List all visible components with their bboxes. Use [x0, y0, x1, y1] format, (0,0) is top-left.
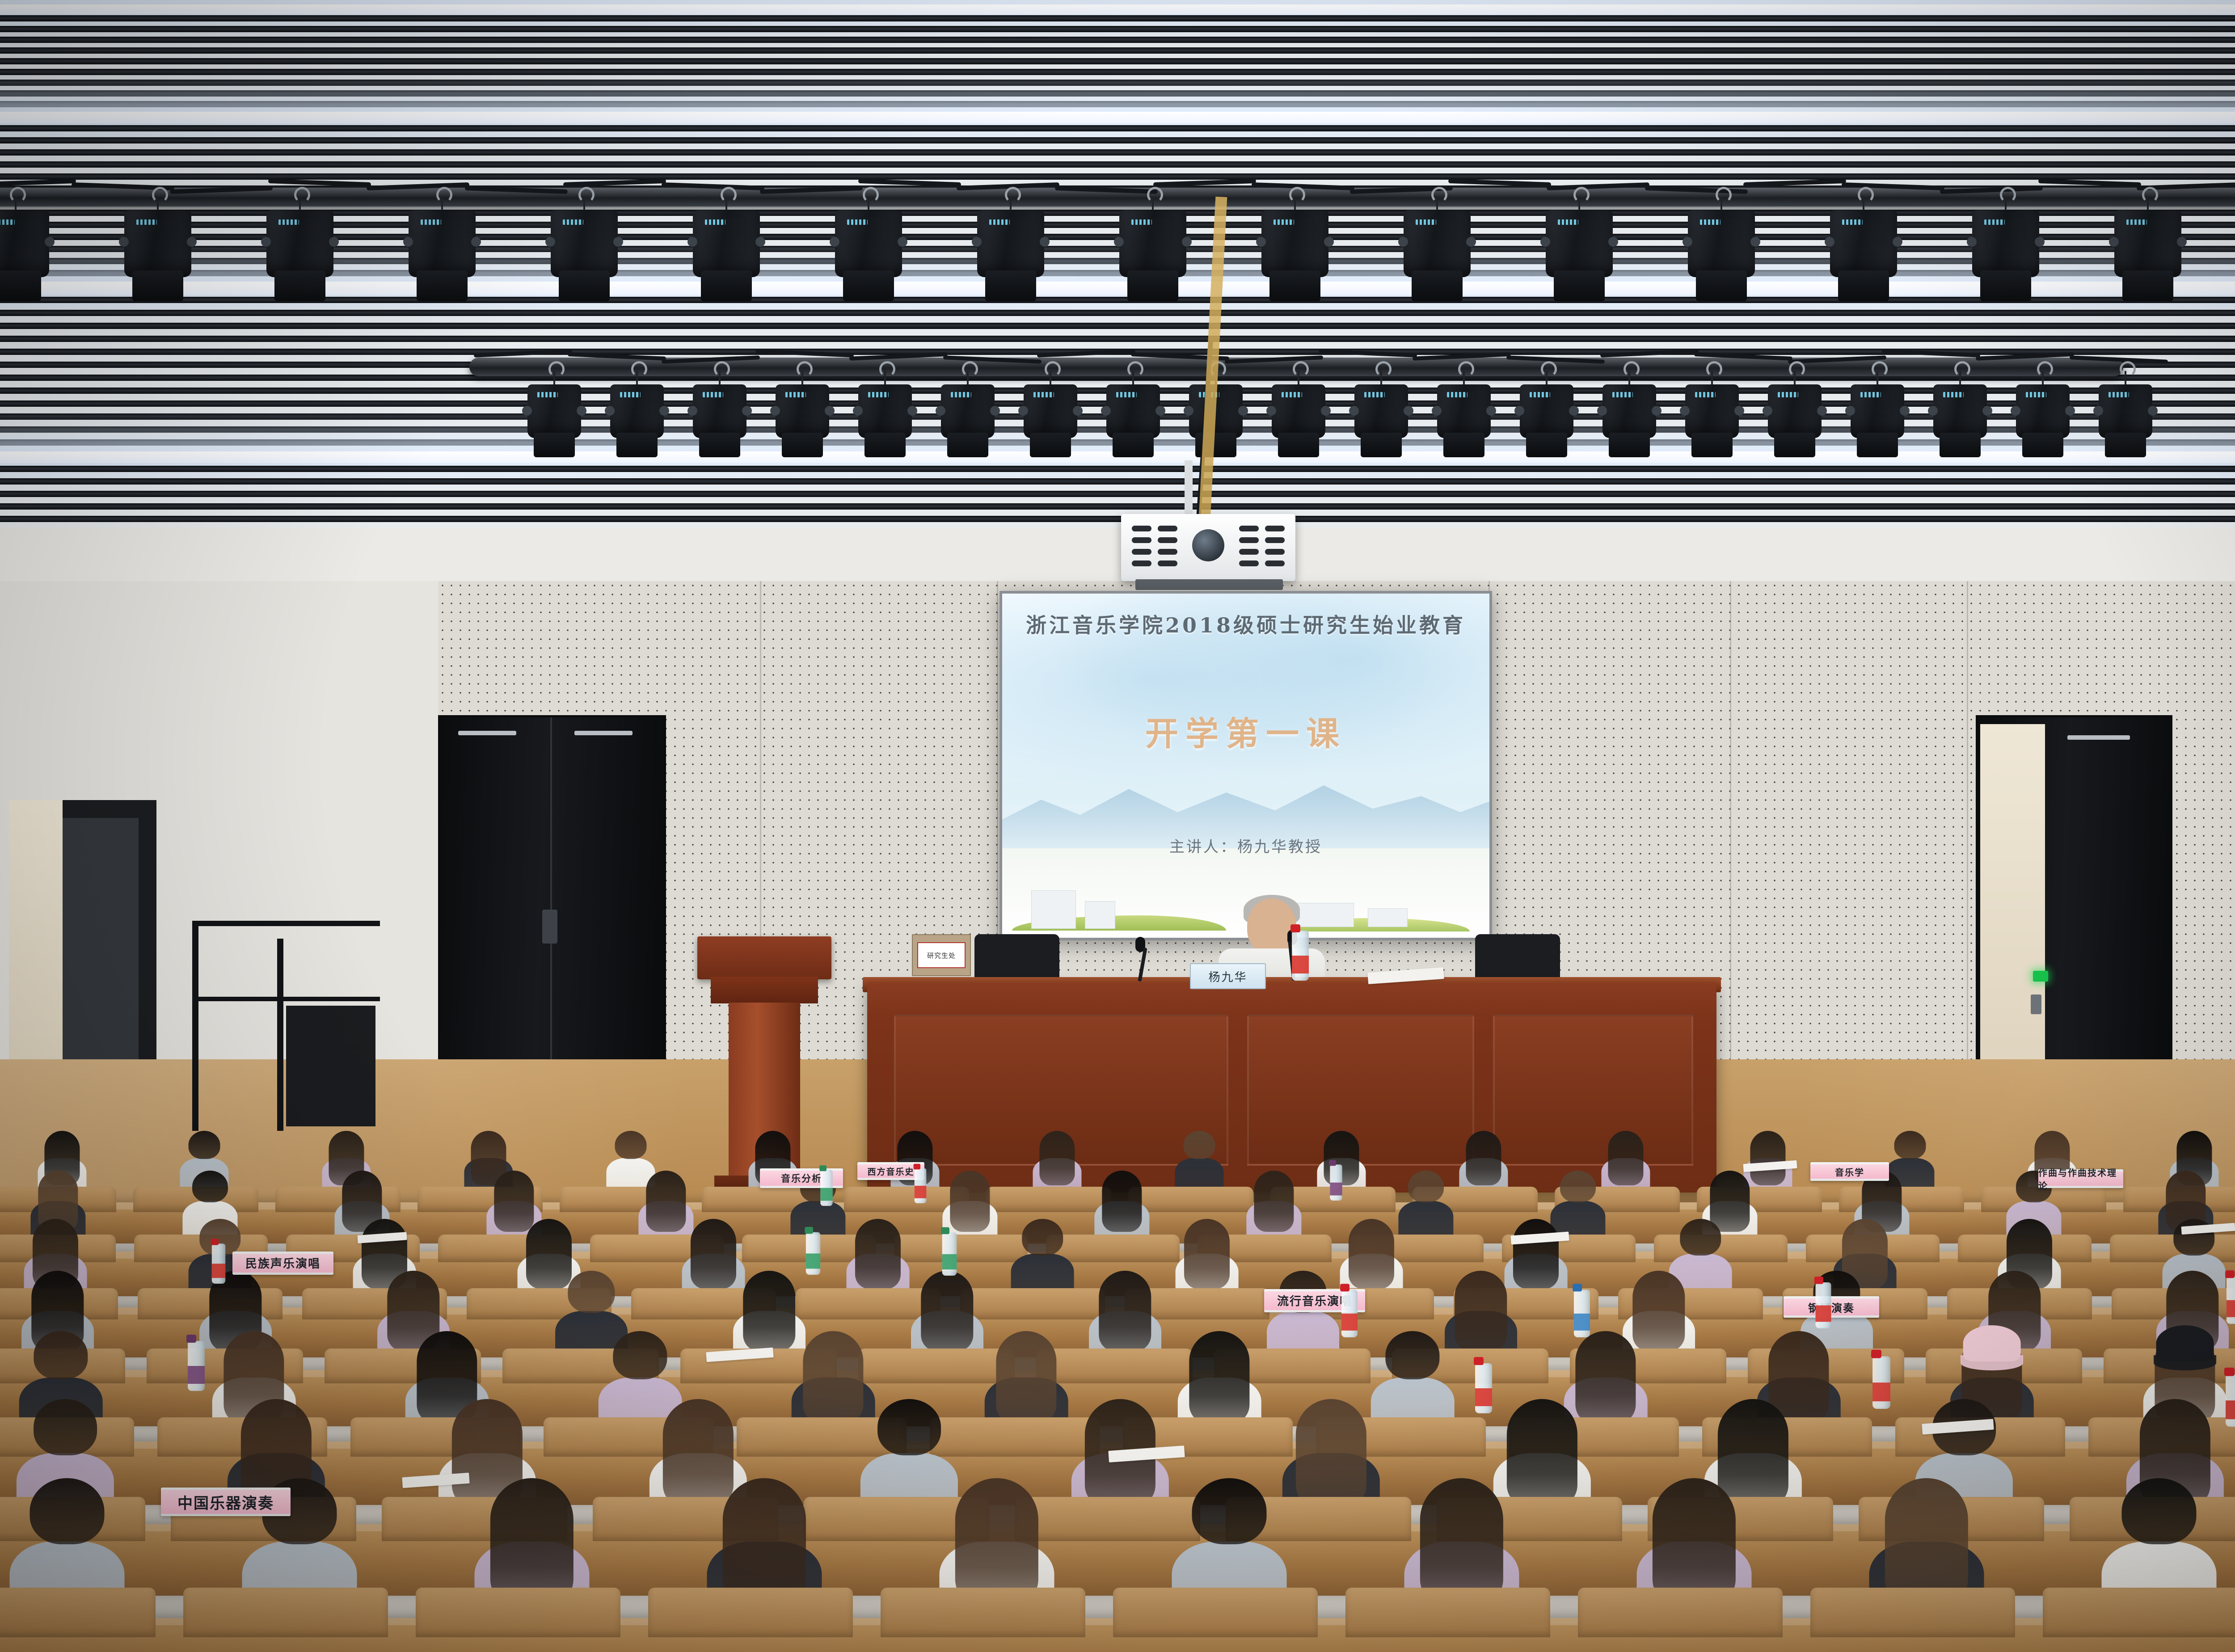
audience-hair	[1102, 1171, 1142, 1232]
stage-light-upper-16	[2114, 210, 2181, 277]
audience-hair	[1513, 1219, 1559, 1289]
audience-cap-brim	[2154, 1355, 2216, 1370]
seat-back[interactable]	[1345, 1588, 1550, 1638]
audience-hair	[34, 1331, 88, 1379]
audience-hair	[723, 1478, 806, 1606]
exit-sign-icon	[2033, 971, 2048, 982]
water-bottle	[1475, 1363, 1492, 1413]
audience-hair	[1885, 1478, 1968, 1606]
ceiling-slat	[0, 297, 2235, 303]
stage-light-upper-7	[835, 210, 902, 277]
door-stage-right[interactable]	[1976, 715, 2172, 1100]
stage-light-lower-13	[1520, 384, 1573, 438]
seat-back[interactable]	[881, 1588, 1085, 1638]
audience-hair	[803, 1331, 863, 1424]
ceiling-slat	[0, 336, 2235, 342]
slide-subtitle: 开学第一课	[1002, 707, 1489, 755]
door-stage-left[interactable]	[438, 715, 666, 1100]
ceiling-slat	[0, 491, 2235, 497]
ceiling-slat	[0, 466, 2235, 472]
audience-hair	[1022, 1219, 1063, 1255]
stage-light-lower-12	[1437, 384, 1491, 438]
ceiling-slat	[0, 258, 2235, 264]
projector-lens-icon	[1192, 529, 1224, 561]
audience-hair	[1184, 1219, 1230, 1289]
stage-light-upper-13	[1688, 210, 1755, 277]
projector-mount	[1185, 460, 1193, 517]
audience-member	[1033, 1131, 1081, 1196]
audience-hair	[1560, 1171, 1596, 1202]
seat-back[interactable]	[183, 1588, 388, 1638]
seat-back[interactable]	[1113, 1588, 1318, 1638]
equipment-box-left	[286, 1006, 375, 1126]
ceiling-slat	[0, 47, 2235, 54]
ceiling-slat	[0, 323, 2235, 329]
department-table-card-label: 研究生处	[917, 942, 966, 968]
speaker-nameplate: 杨九华	[1190, 963, 1266, 989]
seat-back[interactable]	[986, 1187, 1111, 1212]
head-table-panel-right	[1493, 1015, 1693, 1166]
ceiling-slat	[0, 69, 2235, 75]
audience-hair	[691, 1219, 736, 1289]
ceiling-slat	[0, 37, 2235, 43]
audience-member	[1246, 1171, 1301, 1243]
water-bottle	[1574, 1290, 1590, 1337]
stage-light-lower-10	[1272, 384, 1325, 438]
audience-hair	[996, 1331, 1056, 1424]
audience-hair	[1189, 1331, 1249, 1424]
audience-hair	[2121, 1478, 2196, 1545]
audience-hair	[568, 1271, 615, 1313]
projector-plate	[1135, 579, 1283, 590]
stage-light-lower-3	[693, 384, 746, 438]
stage-light-upper-14	[1830, 210, 1897, 277]
audience-hair	[1608, 1131, 1643, 1185]
stage-light-lower-4	[776, 384, 829, 438]
seat-back[interactable]	[2043, 1588, 2235, 1638]
stage-light-lower-2	[610, 384, 664, 438]
stage-light-upper-12	[1546, 210, 1613, 277]
ceiling-slat	[0, 58, 2235, 64]
ceiling-slat	[0, 270, 2235, 276]
ceiling-slat	[0, 478, 2235, 485]
water-bottle	[188, 1341, 205, 1391]
seat-back[interactable]	[416, 1588, 620, 1638]
stage-light-lower-7	[1024, 384, 1077, 438]
audience-hair	[192, 1171, 228, 1202]
placard-musicology: 音乐学	[1810, 1162, 1889, 1181]
audience-member	[1094, 1171, 1149, 1243]
water-bottle	[1872, 1356, 1890, 1409]
ceiling-slat	[0, 503, 2235, 510]
seat-back[interactable]	[1578, 1588, 1783, 1638]
audience-hair	[1349, 1219, 1394, 1289]
placard-piano: 钢琴演奏	[1784, 1296, 1879, 1318]
audience-hair	[1039, 1131, 1075, 1185]
stage-light-upper-4	[409, 210, 476, 277]
water-bottle	[2226, 1374, 2235, 1427]
audience-hair	[1653, 1478, 1736, 1606]
audience-cap-brim	[1961, 1355, 2023, 1370]
audience-hair	[1099, 1271, 1151, 1351]
stage-light-lower-14	[1602, 384, 1656, 438]
stage-light-upper-2	[124, 210, 191, 277]
water-bottle	[1341, 1290, 1358, 1337]
ceiling-slat	[0, 80, 2235, 86]
audience-hair	[1184, 1131, 1215, 1159]
water-bottle	[2227, 1277, 2235, 1324]
audience-hair	[855, 1219, 901, 1289]
water-bottle	[1816, 1282, 1831, 1328]
ceiling-slat	[0, 137, 2235, 143]
audience-hair	[743, 1271, 795, 1351]
audience-hair	[1455, 1271, 1507, 1351]
audience-hair	[1296, 1399, 1366, 1508]
placard-chinese-instruments: 中国乐器演奏	[161, 1488, 291, 1516]
podium-top	[697, 936, 831, 979]
stage-light-upper-5	[551, 210, 618, 277]
water-bottle	[820, 1170, 832, 1206]
audience-hair	[921, 1271, 973, 1351]
seat-back[interactable]	[0, 1588, 156, 1638]
stage-light-upper-3	[266, 210, 333, 277]
audience-hair	[189, 1131, 220, 1159]
stage-light-lower-5	[858, 384, 912, 438]
ceiling-slat	[0, 90, 2235, 97]
ceiling-slat	[0, 161, 2235, 168]
audience-member	[1175, 1131, 1223, 1196]
ceiling-slat	[0, 210, 2235, 216]
audience-hair	[1408, 1171, 1444, 1202]
stage-light-lower-18	[1933, 384, 1987, 438]
audience-hair	[877, 1399, 941, 1455]
slide-title: 浙江音乐学院2018级硕士研究生始业教育	[1002, 609, 1489, 639]
audience-hair	[615, 1131, 647, 1159]
water-bottle	[942, 1233, 957, 1276]
handrail-left-bar	[192, 921, 380, 926]
ceiling-slat	[0, 15, 2235, 21]
stage-light-upper-6	[693, 210, 760, 277]
stage-light-lower-19	[2016, 384, 2070, 438]
audience-hair	[1466, 1131, 1501, 1185]
seat-back[interactable]	[1810, 1588, 2015, 1638]
handrail-left-bar-2	[192, 997, 380, 1001]
stage-light-lower-1	[527, 384, 581, 438]
seat-back[interactable]	[648, 1588, 853, 1638]
stage-light-lower-17	[1851, 384, 1904, 438]
stage-light-lower-16	[1768, 384, 1822, 438]
seat-back[interactable]	[894, 1235, 1028, 1262]
audience-hair	[1385, 1331, 1439, 1379]
audience-hair	[1420, 1478, 1503, 1606]
handrail-left-post	[192, 921, 198, 1131]
stage-light-lower-8	[1106, 384, 1160, 438]
stage-light-upper-1	[0, 210, 49, 277]
ceiling-slat	[0, 101, 2235, 107]
stage-light-upper-15	[1972, 210, 2039, 277]
audience-member	[1398, 1171, 1453, 1243]
podium-neck	[711, 977, 818, 1003]
ceiling-slat	[0, 173, 2235, 180]
slide-speaker-line: 主讲人：杨九华教授	[1002, 834, 1489, 856]
audience-hair	[1254, 1171, 1294, 1232]
water-bottle	[915, 1168, 927, 1203]
audience-hair	[646, 1171, 686, 1232]
auditorium-scene: 浙江音乐学院2018级硕士研究生始业教育 开学第一课 主讲人：杨九华教授 研究生…	[0, 0, 2235, 1652]
ceiling-slat	[0, 149, 2235, 156]
ceiling-slat	[0, 222, 2235, 228]
stage-light-upper-8	[977, 210, 1044, 277]
audience-member	[1459, 1131, 1508, 1196]
audience-hair	[1894, 1131, 1926, 1159]
ceiling-projector	[1121, 514, 1295, 581]
handrail-left-post-2	[277, 939, 283, 1131]
water-bottle	[212, 1243, 225, 1284]
ceiling-slat	[0, 246, 2235, 252]
audience-hair	[613, 1331, 667, 1379]
audience-hair	[490, 1478, 574, 1606]
audience-member	[1601, 1131, 1650, 1196]
stage-light-upper-9	[1119, 210, 1186, 277]
ceiling-slat	[0, 310, 2235, 316]
audience-hair	[34, 1399, 97, 1455]
audience-hair	[30, 1478, 104, 1545]
stage-light-upper-10	[1261, 210, 1328, 277]
stage-light-upper-11	[1404, 210, 1471, 277]
stage-light-lower-20	[2099, 384, 2152, 438]
placard-folk-vocal: 民族声乐演唱	[232, 1252, 333, 1275]
audience-hair	[1192, 1478, 1266, 1545]
ceiling-slat	[0, 125, 2235, 131]
stage-light-lower-11	[1354, 384, 1408, 438]
audience-hair	[1680, 1219, 1721, 1255]
audience-hair	[955, 1478, 1038, 1606]
ceiling-slat	[0, 26, 2235, 32]
stage-light-lower-6	[941, 384, 995, 438]
water-bottle-table	[1292, 931, 1309, 981]
water-bottle	[806, 1232, 820, 1275]
ceiling-slat	[0, 516, 2235, 522]
stage-light-lower-15	[1685, 384, 1739, 438]
water-bottle	[1330, 1164, 1342, 1201]
projection-screen: 浙江音乐学院2018级硕士研究生始业教育 开学第一课 主讲人：杨九华教授	[999, 591, 1492, 940]
audience-hair	[950, 1171, 990, 1232]
placard-composition-theory: 作曲与作曲技术理论	[2038, 1169, 2123, 1188]
department-table-card: 研究生处	[912, 934, 971, 976]
